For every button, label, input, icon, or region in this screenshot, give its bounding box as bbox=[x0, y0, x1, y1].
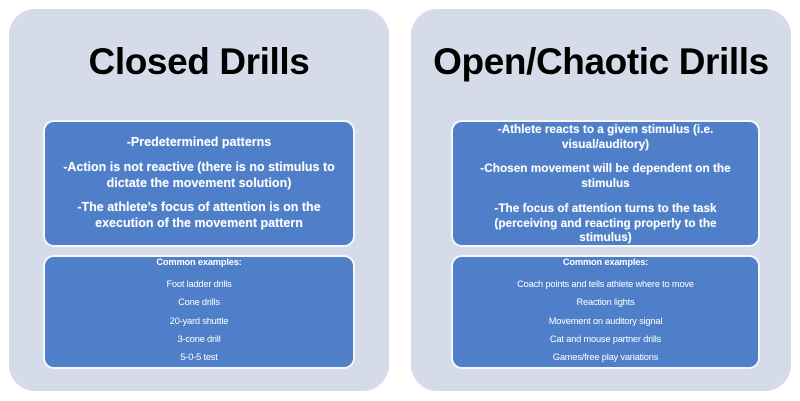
example-item: Movement on auditory signal bbox=[549, 316, 662, 327]
examples-box-open-chaotic-drills: Common examples: Coach points and tells … bbox=[451, 255, 760, 369]
example-item: Foot ladder drills bbox=[166, 279, 231, 290]
description-line: -Athlete reacts to a given stimulus (i.e… bbox=[467, 122, 744, 151]
example-item: Cone drills bbox=[178, 297, 220, 308]
example-item: 5-0-5 test bbox=[180, 352, 217, 363]
description-box-open-chaotic-drills: -Athlete reacts to a given stimulus (i.e… bbox=[451, 120, 760, 247]
description-line: -Chosen movement will be dependent on th… bbox=[467, 161, 744, 190]
description-line: -The focus of attention turns to the tas… bbox=[467, 201, 744, 245]
examples-heading: Common examples: bbox=[563, 257, 648, 268]
description-line: -The athlete’s focus of attention is on … bbox=[59, 200, 339, 231]
example-item: Games/free play variations bbox=[553, 352, 658, 363]
column-title-open-chaotic-drills: Open/Chaotic Drills bbox=[411, 43, 791, 82]
example-item: Reaction lights bbox=[577, 297, 635, 308]
example-item: Coach points and tells athlete where to … bbox=[517, 279, 694, 290]
description-line: -Action is not reactive (there is no sti… bbox=[59, 160, 339, 191]
description-line: -Predetermined patterns bbox=[127, 135, 271, 151]
example-item: 3-cone drill bbox=[177, 334, 220, 345]
column-closed-drills: Closed Drills -Predetermined patterns -A… bbox=[9, 9, 389, 391]
example-item: Cat and mouse partner drills bbox=[550, 334, 661, 345]
column-open-chaotic-drills: Open/Chaotic Drills -Athlete reacts to a… bbox=[411, 9, 791, 391]
column-title-closed-drills: Closed Drills bbox=[9, 43, 389, 82]
examples-heading: Common examples: bbox=[156, 257, 241, 268]
examples-box-closed-drills: Common examples: Foot ladder drills Cone… bbox=[43, 255, 355, 369]
description-box-closed-drills: -Predetermined patterns -Action is not r… bbox=[43, 120, 355, 247]
comparison-infographic: Closed Drills -Predetermined patterns -A… bbox=[0, 0, 800, 401]
example-item: 20-yard shuttle bbox=[170, 316, 229, 327]
